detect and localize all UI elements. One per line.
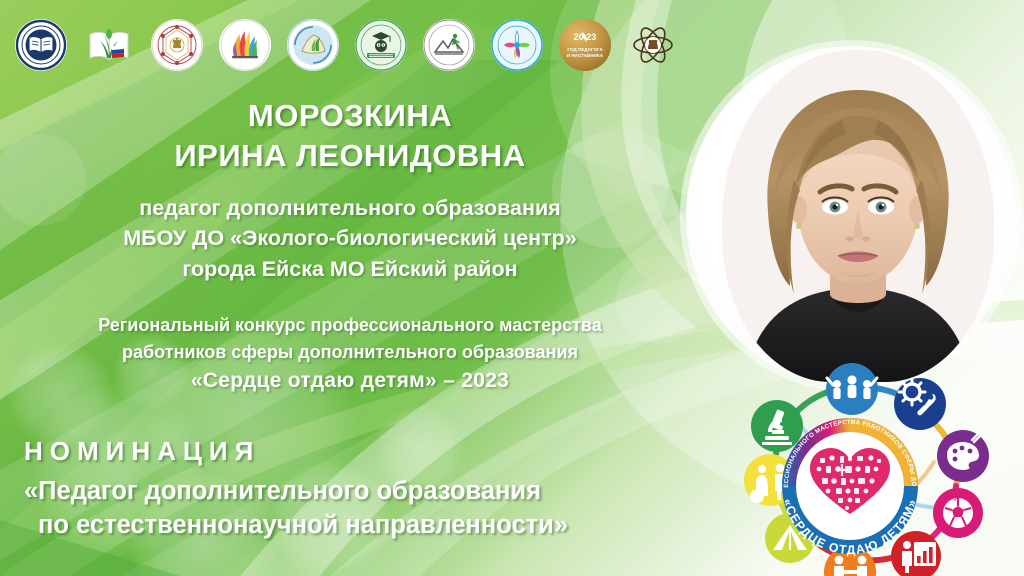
svg-text:И НАСТАВНИКА: И НАСТАВНИКА	[567, 53, 604, 58]
logo-graduate-institute	[354, 18, 408, 72]
nomination-label: НОМИНАЦИЯ	[24, 436, 700, 467]
portrait-photo	[722, 50, 994, 382]
logo-year-of-teacher-2023: 20 23 ГОД ПЕДАГОГА И НАСТАВНИКА	[558, 18, 612, 72]
portrait-frame	[686, 46, 1016, 386]
presentation-slide: 20 23 ГОД ПЕДАГОГА И НАСТАВНИКА	[0, 0, 1024, 576]
nomination-line-1: «Педагог дополнительного образования	[24, 475, 700, 509]
logo-open-book-emblem	[14, 18, 68, 72]
competition-emblem: РЕГИОНАЛЬНЫЙ КОНКУРС ПРОФЕССИОНАЛЬНОГО М…	[738, 358, 1020, 576]
logo-russian-federation-crest	[150, 18, 204, 72]
person-surname: МОРОЗКИНА	[0, 96, 700, 136]
competition-info: Региональный конкурс профессионального м…	[0, 312, 700, 396]
nomination-line-2: по естественнонаучной направленности»	[24, 509, 700, 543]
logo-ecology-tourism	[422, 18, 476, 72]
emblem-icon-family	[826, 363, 878, 415]
competition-line-3: «Сердце отдаю детям» – 2023	[0, 365, 700, 396]
nomination-info: НОМИНАЦИЯ «Педагог дополнительного образ…	[0, 436, 700, 542]
person-name: МОРОЗКИНА ИРИНА ЛЕОНИДОВНА	[0, 96, 700, 177]
position-line-1: педагог дополнительного образования	[0, 193, 700, 224]
person-position: педагог дополнительного образования МБОУ…	[0, 193, 700, 285]
emblem-icon-microscope	[751, 400, 803, 452]
position-line-3: города Ейска МО Ейский район	[0, 254, 700, 285]
competition-line-2: работников сферы дополнительного образов…	[0, 339, 700, 366]
position-line-2: МБОУ ДО «Эколого-биологический центр»	[0, 223, 700, 254]
slide-text-content: МОРОЗКИНА ИРИНА ЛЕОНИДОВНА педагог допол…	[0, 96, 700, 543]
logo-krasnodar-region	[286, 18, 340, 72]
emblem-icon-soccer-ball	[933, 488, 983, 538]
logo-dvorets-tvorchestva	[490, 18, 544, 72]
logo-atom-science	[626, 18, 680, 72]
person-given-patronymic: ИРИНА ЛЕОНИДОВНА	[0, 136, 700, 176]
partner-logo-strip: 20 23 ГОД ПЕДАГОГА И НАСТАВНИКА	[14, 18, 680, 72]
competition-line-1: Региональный конкурс профессионального м…	[0, 312, 700, 339]
logo-trade-union-education	[82, 18, 136, 72]
emblem-icon-palette	[937, 430, 989, 482]
emblem-icon-gear-wrench	[894, 378, 946, 430]
logo-rainbow-flame	[218, 18, 272, 72]
svg-text:ГОД ПЕДАГОГА: ГОД ПЕДАГОГА	[567, 47, 603, 52]
